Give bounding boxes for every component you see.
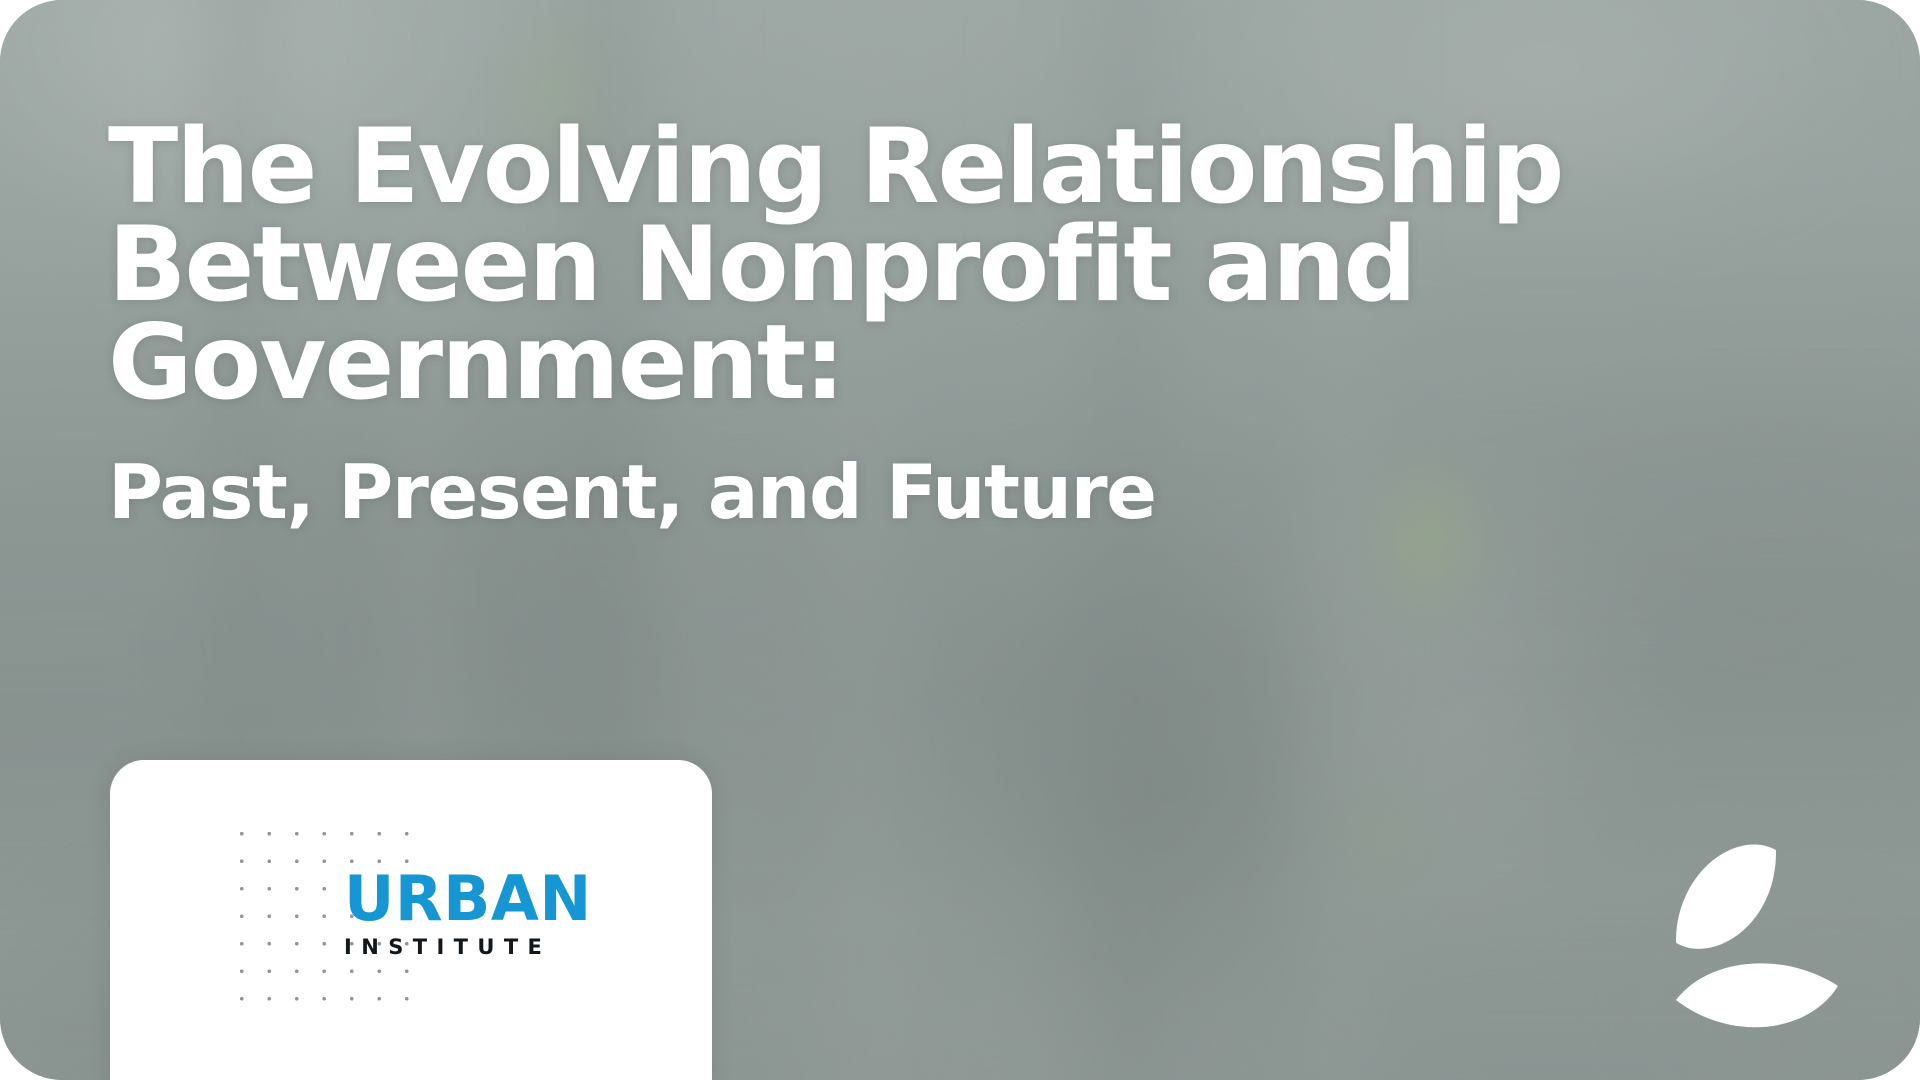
- page-title-line-2: Between Nonprofit and: [108, 216, 1848, 314]
- urban-institute-logo: URBAN INSTITUTE: [228, 820, 648, 1050]
- logo-wordmark: URBAN INSTITUTE: [344, 868, 592, 958]
- page-title-line-1: The Evolving Relationship: [108, 118, 1848, 216]
- two-leaf-mark-icon: [1658, 834, 1862, 1052]
- logo-wordmark-institute: INSTITUTE: [344, 937, 592, 958]
- page-subtitle: Past, Present, and Future: [108, 452, 1848, 532]
- page-title-line-3: Government:: [108, 314, 1848, 412]
- logo-card: URBAN INSTITUTE: [110, 760, 712, 1080]
- logo-wordmark-urban: URBAN: [344, 868, 592, 930]
- headline-block: The Evolving Relationship Between Nonpro…: [108, 118, 1848, 532]
- title-slide: The Evolving Relationship Between Nonpro…: [0, 0, 1920, 1080]
